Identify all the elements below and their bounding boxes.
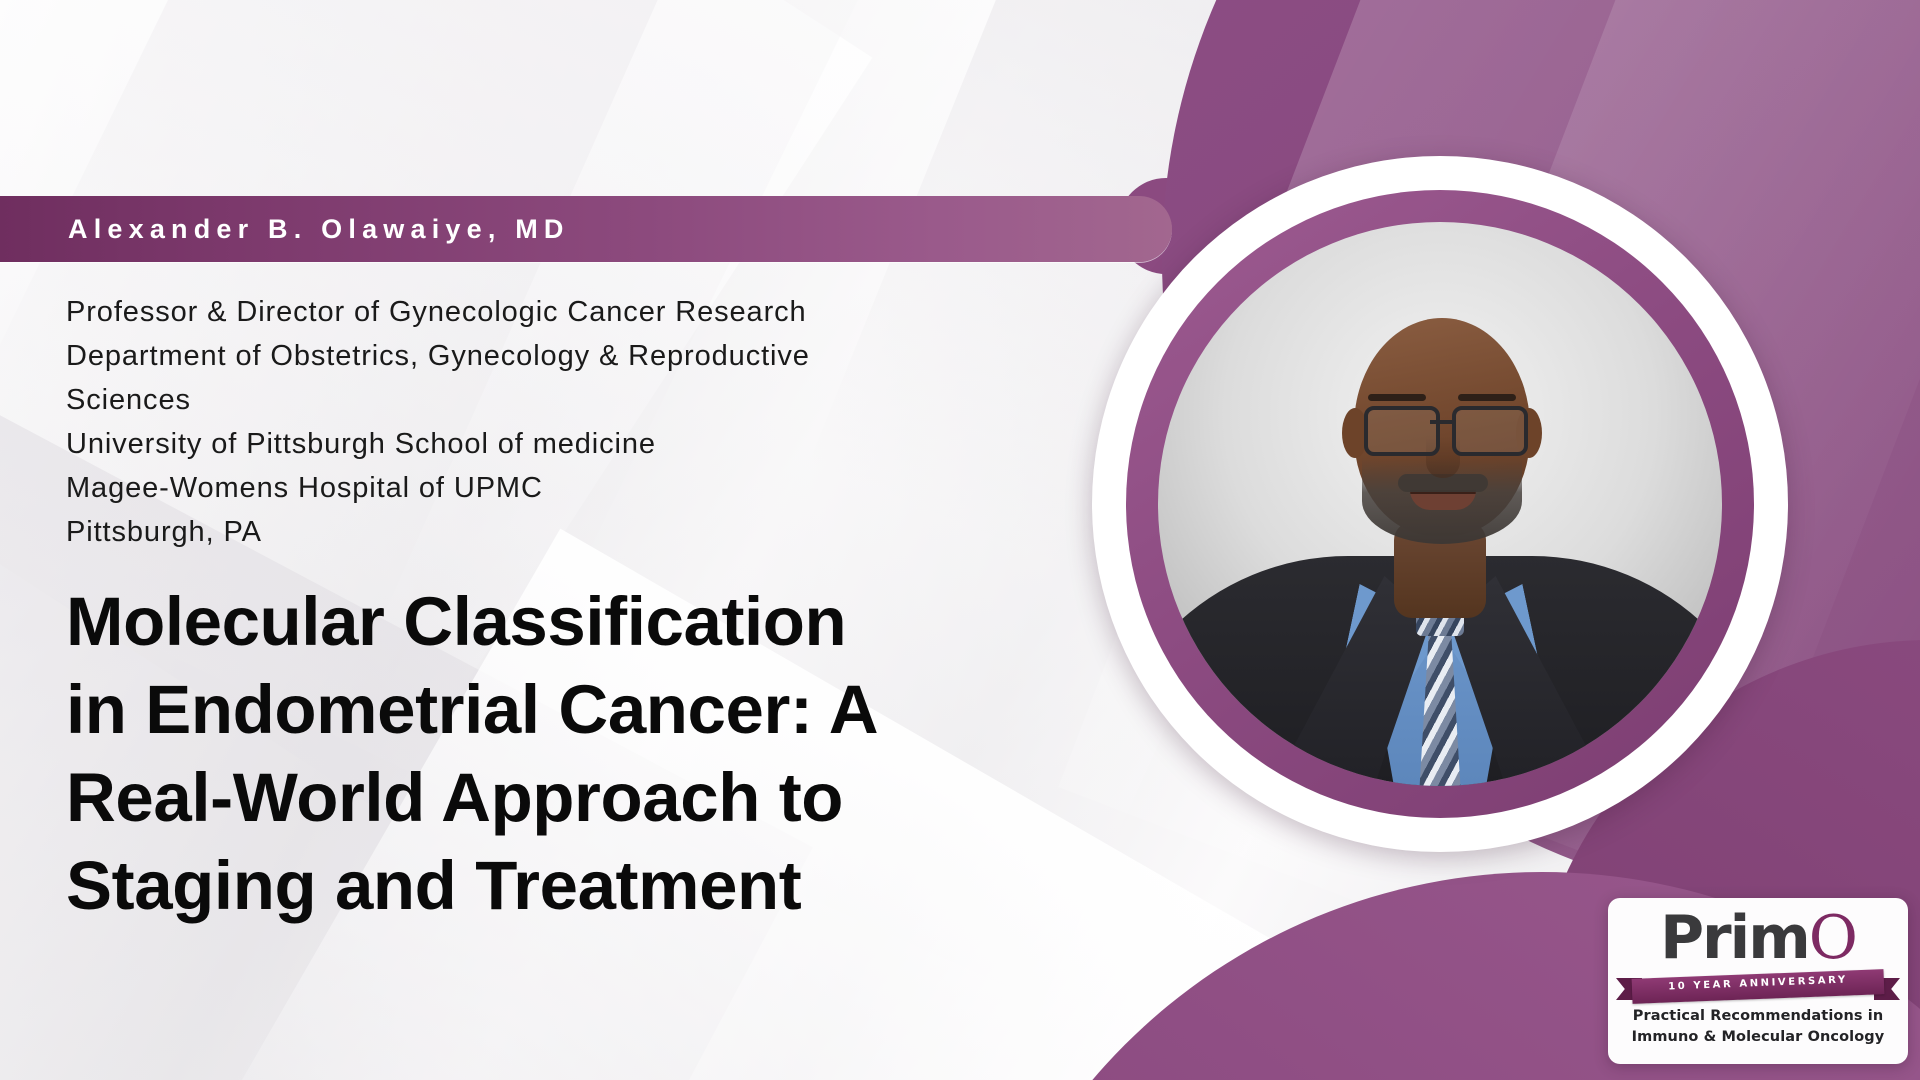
title-slide: Alexander B. Olawaiye, MD Professor & Di…: [0, 0, 1920, 1080]
portrait-eyebrow-right: [1458, 394, 1516, 401]
primo-tagline-line-2: Immuno & Molecular Oncology: [1608, 1027, 1908, 1048]
affiliation-line: Pittsburgh, PA: [66, 510, 1056, 554]
portrait-eyeglass-bridge: [1430, 420, 1456, 424]
primo-omega-mark: O: [1809, 903, 1856, 973]
speaker-name-banner: Alexander B. Olawaiye, MD: [0, 196, 1172, 262]
affiliation-line: Magee-Womens Hospital of UPMC: [66, 466, 1056, 510]
portrait-eyeglass-left: [1364, 406, 1440, 456]
title-line: Molecular Classification: [66, 578, 1076, 666]
affiliation-block: Professor & Director of Gynecologic Canc…: [66, 290, 1056, 554]
portrait-eyeglass-right: [1452, 406, 1528, 456]
anniversary-ribbon: 10 YEAR ANNIVERSARY: [1616, 972, 1900, 1002]
speaker-name: Alexander B. Olawaiye, MD: [68, 214, 570, 245]
title-line: Real-World Approach to: [66, 754, 1076, 842]
affiliation-line: Department of Obstetrics, Gynecology & R…: [66, 334, 1056, 378]
affiliation-line: Sciences: [66, 378, 1056, 422]
portrait-mouth: [1410, 490, 1476, 510]
title-line: Staging and Treatment: [66, 842, 1076, 930]
primo-wordmark: PrimO: [1608, 906, 1908, 970]
affiliation-line: University of Pittsburgh School of medic…: [66, 422, 1056, 466]
primo-tagline-line-1: Practical Recommendations in: [1608, 1006, 1908, 1027]
primo-logo: PrimO 10 YEAR ANNIVERSARY Practical Reco…: [1608, 898, 1908, 1064]
portrait-photo: [1158, 222, 1722, 786]
page-title: Molecular Classification in Endometrial …: [66, 578, 1076, 930]
primo-wordmark-prefix: Prim: [1660, 903, 1809, 973]
primo-tagline: Practical Recommendations in Immuno & Mo…: [1608, 1006, 1908, 1048]
title-line: in Endometrial Cancer: A: [66, 666, 1076, 754]
speaker-portrait: [1092, 156, 1788, 852]
portrait-eyebrow-left: [1368, 394, 1426, 401]
affiliation-line: Professor & Director of Gynecologic Canc…: [66, 290, 1056, 334]
